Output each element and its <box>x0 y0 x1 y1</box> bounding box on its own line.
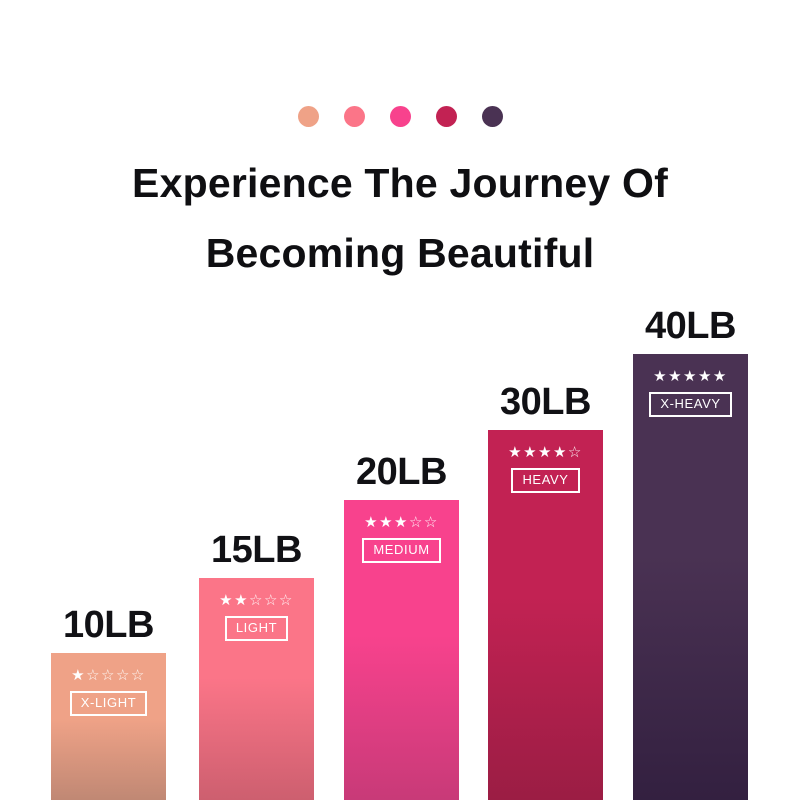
star-filled-icon: ★ <box>508 444 523 461</box>
bar-group-40lb[interactable]: 40LB★★★★★X-HEAVY <box>633 354 748 800</box>
star-empty-icon: ☆ <box>424 514 439 531</box>
bar-40lb[interactable]: 40LB★★★★★X-HEAVY <box>633 354 748 800</box>
bar-badge: ★★☆☆☆LIGHT <box>199 592 314 641</box>
bar-group-10lb[interactable]: 10LB★☆☆☆☆X-LIGHT <box>51 653 166 800</box>
star-empty-icon: ☆ <box>86 667 101 684</box>
bar-20lb[interactable]: 20LB★★★☆☆MEDIUM <box>344 500 459 800</box>
star-empty-icon: ☆ <box>249 592 264 609</box>
bar-group-15lb[interactable]: 15LB★★☆☆☆LIGHT <box>199 578 314 800</box>
resistance-bar-chart: 10LB★☆☆☆☆X-LIGHT15LB★★☆☆☆LIGHT20LB★★★☆☆M… <box>0 0 800 800</box>
tier-label: LIGHT <box>225 616 288 641</box>
bar-badge: ★★★☆☆MEDIUM <box>344 514 459 563</box>
bar-badge: ★☆☆☆☆X-LIGHT <box>51 667 166 716</box>
star-filled-icon: ★ <box>553 444 568 461</box>
bar-weight-label: 10LB <box>63 604 154 647</box>
star-filled-icon: ★ <box>219 592 234 609</box>
star-empty-icon: ☆ <box>409 514 424 531</box>
star-filled-icon: ★ <box>683 368 698 385</box>
star-filled-icon: ★ <box>364 514 379 531</box>
star-empty-icon: ☆ <box>568 444 583 461</box>
bar-30lb[interactable]: 30LB★★★★☆HEAVY <box>488 430 603 800</box>
rating-stars: ★★★☆☆ <box>344 514 459 532</box>
star-empty-icon: ☆ <box>264 592 279 609</box>
bar-weight-label: 15LB <box>211 529 302 572</box>
bar-15lb[interactable]: 15LB★★☆☆☆LIGHT <box>199 578 314 800</box>
tier-label: HEAVY <box>511 468 579 493</box>
rating-stars: ★★☆☆☆ <box>199 592 314 610</box>
bar-badge: ★★★★☆HEAVY <box>488 444 603 493</box>
rating-stars: ★★★★★ <box>633 368 748 386</box>
star-empty-icon: ☆ <box>131 667 146 684</box>
bar-weight-label: 40LB <box>645 305 736 348</box>
star-filled-icon: ★ <box>234 592 249 609</box>
star-filled-icon: ★ <box>653 368 668 385</box>
star-filled-icon: ★ <box>523 444 538 461</box>
bar-10lb[interactable]: 10LB★☆☆☆☆X-LIGHT <box>51 653 166 800</box>
star-filled-icon: ★ <box>379 514 394 531</box>
star-filled-icon: ★ <box>713 368 728 385</box>
star-filled-icon: ★ <box>698 368 713 385</box>
star-filled-icon: ★ <box>71 667 86 684</box>
bar-badge: ★★★★★X-HEAVY <box>633 368 748 417</box>
rating-stars: ★☆☆☆☆ <box>51 667 166 685</box>
tier-label: MEDIUM <box>362 538 440 563</box>
bar-group-20lb[interactable]: 20LB★★★☆☆MEDIUM <box>344 500 459 800</box>
star-empty-icon: ☆ <box>101 667 116 684</box>
tier-label: X-LIGHT <box>70 691 147 716</box>
bar-weight-label: 30LB <box>500 381 591 424</box>
star-filled-icon: ★ <box>538 444 553 461</box>
star-filled-icon: ★ <box>394 514 409 531</box>
rating-stars: ★★★★☆ <box>488 444 603 462</box>
poster-canvas: Experience The Journey Of Becoming Beaut… <box>0 0 800 800</box>
star-filled-icon: ★ <box>668 368 683 385</box>
star-empty-icon: ☆ <box>279 592 294 609</box>
bar-group-30lb[interactable]: 30LB★★★★☆HEAVY <box>488 430 603 800</box>
star-empty-icon: ☆ <box>116 667 131 684</box>
tier-label: X-HEAVY <box>649 392 731 417</box>
bar-weight-label: 20LB <box>356 451 447 494</box>
